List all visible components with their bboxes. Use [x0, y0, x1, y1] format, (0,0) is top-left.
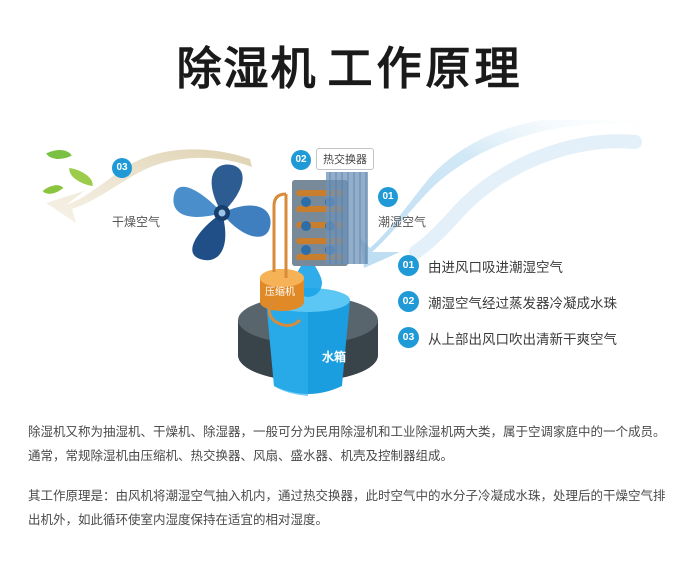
- tag-heat-exchanger: 热交换器: [316, 148, 374, 170]
- label-humid-air: 潮湿空气: [378, 213, 426, 230]
- legend-list: 01 由进风口吸进潮湿空气 02 潮湿空气经过蒸发器冷凝成水珠 03 从上部出风…: [398, 255, 698, 363]
- label-dry-air: 干燥空气: [112, 213, 160, 230]
- page-title-sub: 工作原理: [328, 43, 524, 94]
- label-water-tank: 水箱: [322, 348, 346, 365]
- description-paragraph-1: 除湿机又称为抽湿机、干燥机、除湿器，一般可分为民用除湿机和工业除湿机两大类，属于…: [28, 420, 676, 468]
- page-root: 除湿机工作原理: [0, 0, 700, 566]
- page-title: 除湿机工作原理: [0, 32, 700, 97]
- badge-01-diagram: 01: [378, 187, 398, 207]
- legend-text: 从上部出风口吹出清新干爽空气: [428, 328, 617, 348]
- badge-02-diagram: 02: [291, 150, 311, 170]
- badge-03-diagram: 03: [112, 158, 132, 178]
- description-block: 除湿机又称为抽湿机、干燥机、除湿器，一般可分为民用除湿机和工业除湿机两大类，属于…: [28, 420, 676, 532]
- legend-badge: 01: [398, 255, 419, 276]
- legend-badge: 02: [398, 291, 419, 312]
- legend-text: 由进风口吸进潮湿空气: [428, 256, 563, 276]
- description-paragraph-2: 其工作原理是：由风机将潮湿空气抽入机内，通过热交换器，此时空气中的水分子冷凝成水…: [28, 484, 676, 532]
- legend-item: 01 由进风口吸进潮湿空气: [398, 255, 698, 276]
- legend-badge: 03: [398, 327, 419, 348]
- page-title-main: 除湿机: [176, 43, 317, 94]
- dehumidifier-unit-icon: [230, 150, 390, 400]
- legend-text: 潮湿空气经过蒸发器冷凝成水珠: [428, 292, 617, 312]
- legend-item: 02 潮湿空气经过蒸发器冷凝成水珠: [398, 291, 698, 312]
- label-compressor: 压缩机: [265, 283, 295, 298]
- legend-item: 03 从上部出风口吹出清新干爽空气: [398, 327, 698, 348]
